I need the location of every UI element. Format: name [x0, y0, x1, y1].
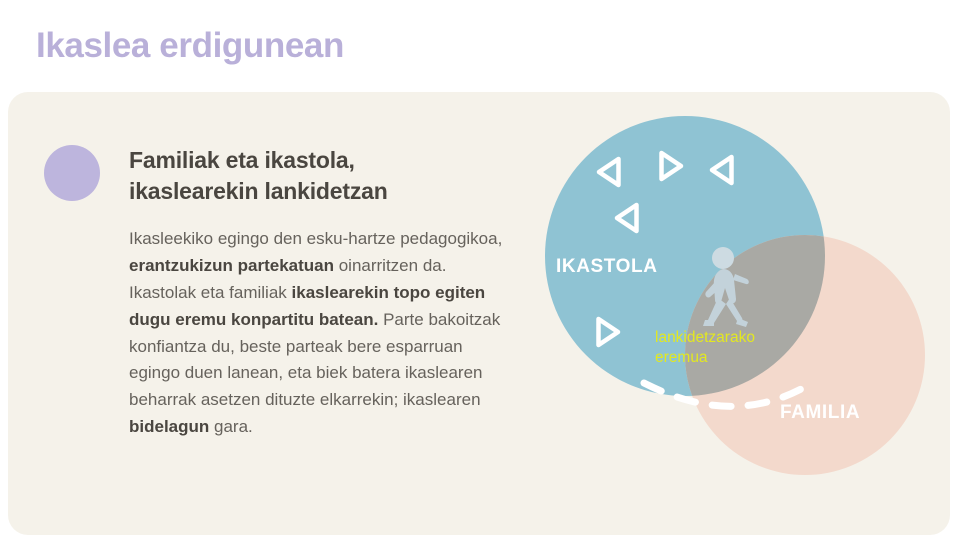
paragraph-text: gara.: [209, 417, 252, 436]
label-overlap-line1: lankidetzarako: [655, 329, 755, 346]
bullet-dot: [44, 145, 100, 201]
label-overlap-line2: eremua: [655, 349, 708, 366]
paragraph-emphasis: bidelagun: [129, 417, 209, 436]
venn-diagram: IKASTOLA FAMILIA lankidetzarako eremua: [520, 100, 960, 520]
text-column: Familiak eta ikastola, ikaslearekin lank…: [129, 145, 504, 441]
page-title: Ikaslea erdigunean: [36, 26, 344, 66]
section-heading-line1: Familiak eta ikastola,: [129, 147, 355, 173]
paragraph-text: Ikasleekiko egingo den esku-hartze pedag…: [129, 229, 502, 248]
body-paragraph: Ikasleekiko egingo den esku-hartze pedag…: [129, 226, 504, 441]
label-ikastola: IKASTOLA: [556, 256, 658, 277]
slide-root: Ikaslea erdigunean Familiak eta ikastola…: [0, 0, 960, 540]
section-heading-line2: ikaslearekin lankidetzan: [129, 178, 388, 204]
section-heading: Familiak eta ikastola, ikaslearekin lank…: [129, 145, 504, 206]
label-familia: FAMILIA: [780, 402, 860, 423]
paragraph-emphasis: erantzukizun partekatuan: [129, 256, 334, 275]
